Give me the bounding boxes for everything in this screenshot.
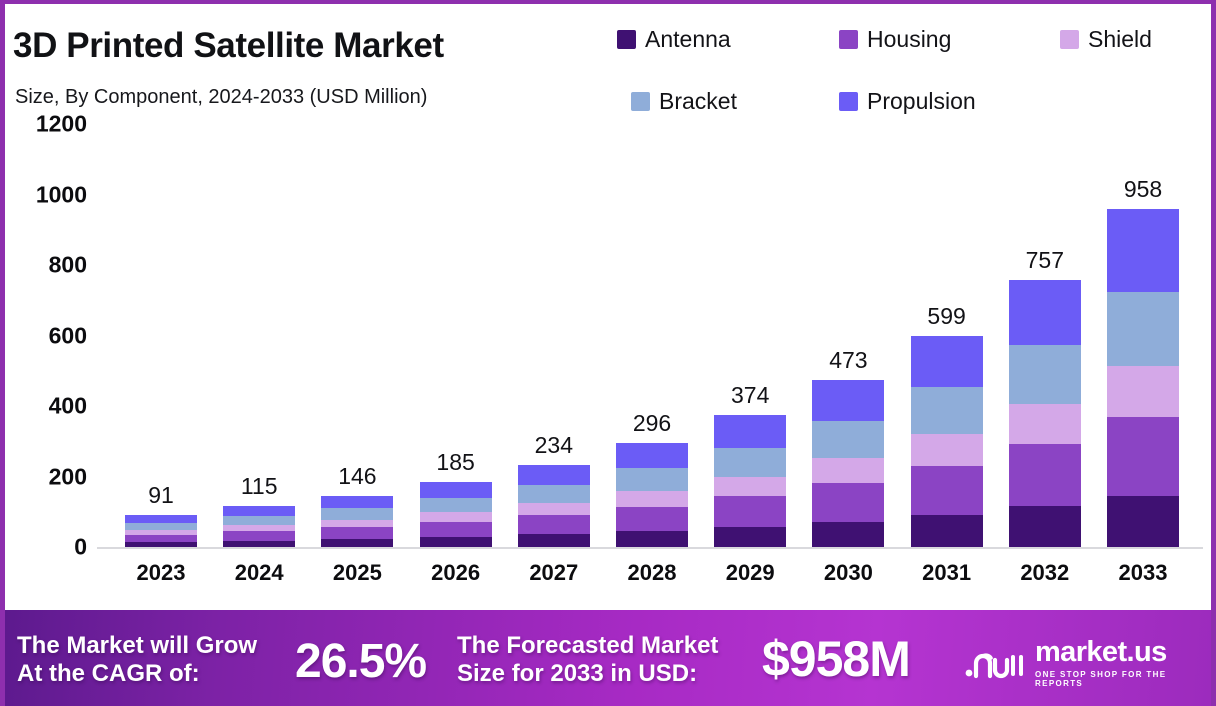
bar-segment-shield[interactable]	[714, 477, 786, 497]
bar-group-2027[interactable]: 234	[518, 465, 590, 547]
bar-segment-bracket[interactable]	[1107, 292, 1179, 366]
bar-segment-housing[interactable]	[223, 531, 295, 541]
x-axis-label-2030: 2030	[812, 560, 884, 586]
x-axis-label-2025: 2025	[321, 560, 393, 586]
y-axis-tick-200: 200	[49, 463, 87, 490]
page-title: 3D Printed Satellite Market	[13, 26, 444, 66]
bar-segment-bracket[interactable]	[321, 508, 393, 519]
bar-segment-antenna[interactable]	[1009, 506, 1081, 547]
legend-item-shield[interactable]: Shield	[1060, 26, 1152, 53]
bar-segment-propulsion[interactable]	[616, 443, 688, 469]
x-axis-label-2033: 2033	[1107, 560, 1179, 586]
bar-group-2029[interactable]: 374	[714, 415, 786, 547]
bar-stack	[518, 465, 590, 547]
bar-segment-shield[interactable]	[518, 503, 590, 515]
legend-item-housing[interactable]: Housing	[839, 26, 951, 53]
bar-segment-antenna[interactable]	[518, 534, 590, 547]
legend-label: Housing	[867, 26, 951, 53]
bar-segment-housing[interactable]	[321, 527, 393, 539]
bar-segment-antenna[interactable]	[223, 541, 295, 547]
x-axis-label-2024: 2024	[223, 560, 295, 586]
bar-segment-housing[interactable]	[420, 522, 492, 537]
cagr-caption: The Market will Grow At the CAGR of:	[17, 632, 257, 689]
bar-segment-bracket[interactable]	[911, 387, 983, 434]
x-axis-label-2023: 2023	[125, 560, 197, 586]
chart-legend: AntennaHousingShieldBracketPropulsion	[617, 20, 1207, 120]
forecast-caption-line1: The Forecasted Market	[457, 632, 718, 660]
bar-stack	[1107, 209, 1179, 547]
bar-stack	[616, 443, 688, 547]
bar-segment-propulsion[interactable]	[420, 482, 492, 498]
y-axis-tick-800: 800	[49, 252, 87, 279]
bar-group-2026[interactable]: 185	[420, 482, 492, 547]
bar-segment-antenna[interactable]	[420, 537, 492, 547]
bar-segment-housing[interactable]	[1107, 417, 1179, 496]
bar-segment-bracket[interactable]	[714, 448, 786, 477]
legend-swatch-propulsion-icon	[839, 92, 858, 111]
bar-value-label: 374	[731, 382, 769, 409]
bar-segment-propulsion[interactable]	[812, 380, 884, 421]
bar-segment-shield[interactable]	[321, 520, 393, 528]
bar-series-container: 9120231152024146202518520262342027296202…	[97, 124, 1205, 549]
bar-segment-antenna[interactable]	[812, 522, 884, 547]
bar-segment-antenna[interactable]	[714, 527, 786, 547]
bar-group-2023[interactable]: 91	[125, 515, 197, 547]
bar-segment-bracket[interactable]	[518, 485, 590, 503]
bar-segment-propulsion[interactable]	[223, 506, 295, 516]
cagr-value: 26.5%	[295, 634, 426, 691]
legend-swatch-housing-icon	[839, 30, 858, 49]
legend-item-antenna[interactable]: Antenna	[617, 26, 731, 53]
bar-value-label: 234	[535, 432, 573, 459]
bar-segment-bracket[interactable]	[1009, 345, 1081, 404]
bar-segment-propulsion[interactable]	[714, 415, 786, 447]
bar-group-2028[interactable]: 296	[616, 443, 688, 547]
plot-area: 020040060080010001200 912023115202414620…	[5, 124, 1211, 604]
y-axis-tick-600: 600	[49, 322, 87, 349]
bar-segment-propulsion[interactable]	[125, 515, 197, 523]
bar-stack	[812, 380, 884, 547]
legend-label: Bracket	[659, 88, 737, 115]
bar-group-2033[interactable]: 958	[1107, 209, 1179, 547]
logo-tagline: ONE STOP SHOP FOR THE REPORTS	[1035, 670, 1211, 688]
bar-value-label: 146	[338, 463, 376, 490]
bar-segment-propulsion[interactable]	[321, 496, 393, 509]
bar-segment-antenna[interactable]	[321, 539, 393, 547]
bar-segment-propulsion[interactable]	[1107, 209, 1179, 291]
x-axis-label-2028: 2028	[616, 560, 688, 586]
chart-infographic: 3D Printed Satellite Market Size, By Com…	[0, 0, 1216, 706]
bar-stack	[420, 482, 492, 547]
bar-stack	[714, 415, 786, 547]
forecast-caption-line2: Size for 2033 in USD:	[457, 660, 718, 688]
bar-segment-bracket[interactable]	[812, 421, 884, 458]
bar-stack	[125, 515, 197, 547]
forecast-value: $958M	[762, 630, 910, 689]
bar-value-label: 599	[927, 303, 965, 330]
bar-value-label: 296	[633, 410, 671, 437]
bar-segment-antenna[interactable]	[1107, 496, 1179, 547]
x-axis-label-2026: 2026	[420, 560, 492, 586]
bar-segment-shield[interactable]	[812, 458, 884, 483]
legend-label: Propulsion	[867, 88, 976, 115]
bar-stack	[321, 496, 393, 547]
legend-item-propulsion[interactable]: Propulsion	[839, 88, 976, 115]
market-us-logo[interactable]: market.us ONE STOP SHOP FOR THE REPORTS	[965, 638, 1211, 688]
bar-segment-shield[interactable]	[911, 434, 983, 466]
bar-value-label: 91	[148, 482, 174, 509]
legend-swatch-antenna-icon	[617, 30, 636, 49]
cagr-caption-line1: The Market will Grow	[17, 632, 257, 660]
logo-name: market.us	[1035, 638, 1211, 667]
footer-banner: The Market will Grow At the CAGR of: 26.…	[5, 610, 1211, 706]
bar-value-label: 185	[436, 449, 474, 476]
x-axis-label-2029: 2029	[714, 560, 786, 586]
bar-segment-propulsion[interactable]	[518, 465, 590, 485]
bar-segment-shield[interactable]	[616, 491, 688, 507]
bar-stack	[1009, 280, 1081, 547]
bar-segment-antenna[interactable]	[911, 515, 983, 547]
legend-swatch-shield-icon	[1060, 30, 1079, 49]
y-axis-tick-400: 400	[49, 393, 87, 420]
y-axis: 020040060080010001200	[5, 124, 97, 564]
chart-subtitle: Size, By Component, 2024-2033 (USD Milli…	[15, 86, 427, 109]
market-us-logomark-icon	[965, 646, 1027, 680]
bar-segment-bracket[interactable]	[223, 516, 295, 525]
bar-segment-housing[interactable]	[1009, 444, 1081, 506]
bar-segment-housing[interactable]	[518, 515, 590, 534]
bar-segment-housing[interactable]	[812, 483, 884, 522]
bar-value-label: 958	[1124, 176, 1162, 203]
bar-segment-shield[interactable]	[1009, 404, 1081, 444]
logo-text-block: market.us ONE STOP SHOP FOR THE REPORTS	[1035, 638, 1211, 688]
legend-item-bracket[interactable]: Bracket	[631, 88, 737, 115]
legend-label: Antenna	[645, 26, 731, 53]
forecast-caption: The Forecasted Market Size for 2033 in U…	[457, 632, 718, 689]
bar-segment-shield[interactable]	[420, 512, 492, 522]
bar-stack	[223, 506, 295, 547]
bar-group-2025[interactable]: 146	[321, 496, 393, 547]
bar-segment-housing[interactable]	[911, 466, 983, 515]
bar-value-label: 115	[241, 473, 278, 500]
bar-group-2031[interactable]: 599	[911, 336, 983, 547]
bar-segment-antenna[interactable]	[616, 531, 688, 547]
bar-value-label: 473	[829, 347, 867, 374]
bar-segment-shield[interactable]	[1107, 366, 1179, 417]
bar-stack	[911, 336, 983, 547]
x-axis-label-2027: 2027	[518, 560, 590, 586]
bar-segment-bracket[interactable]	[125, 523, 197, 530]
bar-segment-housing[interactable]	[714, 496, 786, 527]
bar-segment-bracket[interactable]	[616, 468, 688, 491]
y-axis-tick-1200: 1200	[36, 111, 87, 138]
bar-segment-bracket[interactable]	[420, 498, 492, 512]
legend-label: Shield	[1088, 26, 1152, 53]
bar-value-label: 757	[1026, 247, 1064, 274]
legend-swatch-bracket-icon	[631, 92, 650, 111]
x-axis-label-2032: 2032	[1009, 560, 1081, 586]
bar-segment-housing[interactable]	[616, 507, 688, 531]
y-axis-tick-1000: 1000	[36, 181, 87, 208]
bar-segment-antenna[interactable]	[125, 542, 197, 547]
bar-segment-housing[interactable]	[125, 535, 197, 542]
y-axis-tick-0: 0	[74, 534, 87, 561]
bar-group-2030[interactable]: 473	[812, 380, 884, 547]
cagr-caption-line2: At the CAGR of:	[17, 660, 257, 688]
bar-segment-propulsion[interactable]	[1009, 280, 1081, 345]
x-axis-label-2031: 2031	[911, 560, 983, 586]
bar-group-2032[interactable]: 757	[1009, 280, 1081, 547]
bar-group-2024[interactable]: 115	[223, 506, 295, 547]
bar-segment-propulsion[interactable]	[911, 336, 983, 387]
